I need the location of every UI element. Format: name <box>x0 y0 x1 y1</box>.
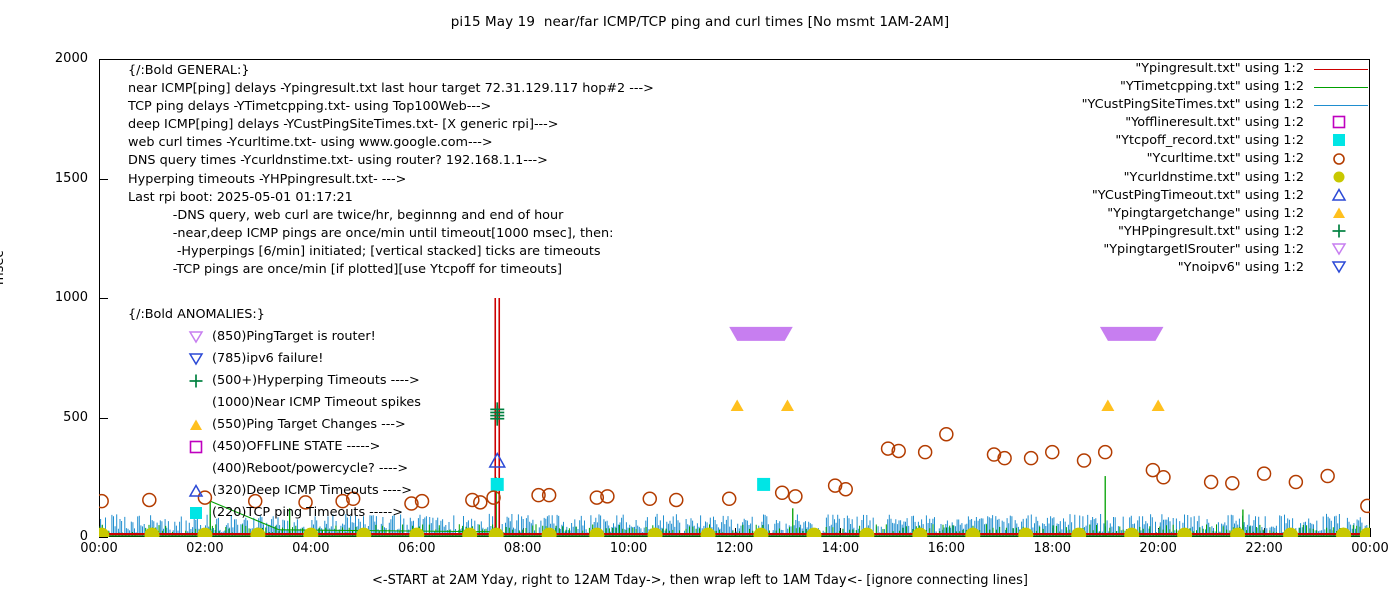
anomalies-heading: {/:Bold ANOMALIES:} <box>128 306 265 328</box>
anomaly-label: (785)ipv6 failure! <box>212 350 323 368</box>
x-axis-tick-mark <box>99 528 100 537</box>
x-axis-tick-label: 00:00 <box>1351 541 1388 556</box>
anomaly-item: (850)PingTarget is router! <box>128 328 265 350</box>
y-axis-label: msec <box>0 250 7 285</box>
x-axis-tick-mark <box>1158 528 1159 537</box>
x-axis-tick-mark <box>311 528 312 537</box>
triangle-up-open-blue-icon <box>189 484 207 500</box>
legend-entry-key <box>1310 96 1372 114</box>
y-axis-tick-mark <box>99 418 108 419</box>
x-axis-tick-label: 22:00 <box>1245 541 1282 556</box>
y-axis-tick-mark <box>99 179 108 180</box>
anomaly-item: (450)OFFLINE STATE -----> <box>128 438 265 460</box>
legend-entry-key <box>1310 60 1372 78</box>
legend-line-swatch <box>1314 87 1368 88</box>
square-filled-cyan-icon <box>1332 133 1348 149</box>
anomaly-label: (400)Reboot/powercycle? ----> <box>212 460 408 478</box>
legend-entry-key <box>1310 151 1372 169</box>
general-line: TCP ping delays -YTimetcpping.txt- using… <box>128 98 654 116</box>
triangle-up-filled-orange-icon <box>189 418 207 434</box>
legend-entry-label: "Ycurltime.txt" using 1:2 <box>1147 150 1304 168</box>
anomaly-label: (850)PingTarget is router! <box>212 328 376 346</box>
y-axis-tick-mark <box>99 298 108 299</box>
anomaly-label: (320)Deep ICMP Timeouts ----> <box>212 482 412 500</box>
legend-entry-label: "YCustPingTimeout.txt" using 1:2 <box>1092 187 1304 205</box>
x-axis-tick-mark <box>1370 528 1371 537</box>
y-axis-tick-mark <box>99 59 108 60</box>
y-axis-tick-label: 2000 <box>28 51 88 66</box>
square-filled-cyan-icon <box>189 506 207 522</box>
y-axis-tick-mark <box>99 537 108 538</box>
legend-entry-label: "Yofflineresult.txt" using 1:2 <box>1125 114 1304 132</box>
x-axis-tick-mark <box>1264 528 1265 537</box>
legend-entry-label: "YCustPingSiteTimes.txt" using 1:2 <box>1082 96 1304 114</box>
legend-entry-key <box>1310 132 1372 150</box>
legend-entry-label: "Ytcpoff_record.txt" using 1:2 <box>1115 132 1304 150</box>
x-axis-tick-label: 18:00 <box>1034 541 1071 556</box>
legend-entry-label: "Ypingtargetchange" using 1:2 <box>1107 205 1304 223</box>
legend-entry: "YHPpingresult.txt" using 1:2 <box>1032 223 1372 241</box>
triangle-down-open-violet-icon <box>1332 242 1348 258</box>
anomaly-item: (320)Deep ICMP Timeouts ----> <box>128 482 265 504</box>
x-axis-tick-label: 12:00 <box>716 541 753 556</box>
anomaly-item: (1000)Near ICMP Timeout spikes <box>128 394 265 416</box>
plus-green-icon <box>189 374 207 390</box>
anomaly-label: (1000)Near ICMP Timeout spikes <box>212 394 421 412</box>
general-annotation-block: {/:Bold GENERAL:}near ICMP[ping] delays … <box>128 62 654 279</box>
y-axis-tick-label: 1500 <box>28 171 88 186</box>
legend-entry: "Ycurltime.txt" using 1:2 <box>1032 150 1372 168</box>
legend-entry: "Ypingresult.txt" using 1:2 <box>1032 60 1372 78</box>
anomaly-item: (500+)Hyperping Timeouts ----> <box>128 372 265 394</box>
x-axis-tick-mark <box>205 528 206 537</box>
general-line: -DNS query, web curl are twice/hr, begin… <box>128 207 654 225</box>
anomaly-item: (400)Reboot/powercycle? ----> <box>128 460 265 482</box>
x-axis-label: <-START at 2AM Yday, right to 12AM Tday-… <box>0 573 1400 588</box>
general-line: -TCP pings are once/min [if plotted][use… <box>128 261 654 279</box>
general-line: DNS query times -Ycurldnstime.txt- using… <box>128 152 654 170</box>
x-axis-tick-mark <box>523 528 524 537</box>
legend-entry: "YCustPingSiteTimes.txt" using 1:2 <box>1032 96 1372 114</box>
anomalies-annotation-block: {/:Bold ANOMALIES:}(850)PingTarget is ro… <box>128 306 265 526</box>
legend-entry: "Ytcpoff_record.txt" using 1:2 <box>1032 132 1372 150</box>
general-heading: {/:Bold GENERAL:} <box>128 62 654 80</box>
triangle-down-open-blue-icon <box>1332 260 1348 276</box>
page-title: pi15 May 19 near/far ICMP/TCP ping and c… <box>0 14 1400 30</box>
legend-entry-key <box>1310 205 1372 223</box>
x-axis-tick-label: 14:00 <box>822 541 859 556</box>
triangle-up-open-blue-icon <box>1332 188 1348 204</box>
legend-line-swatch <box>1314 69 1368 70</box>
x-axis-tick-mark <box>1052 528 1053 537</box>
legend-entry-label: "Ynoipv6" using 1:2 <box>1178 259 1304 277</box>
legend-line-swatch <box>1314 105 1368 106</box>
x-axis-tick-label: 02:00 <box>186 541 223 556</box>
legend-entry: "Ycurldnstime.txt" using 1:2 <box>1032 169 1372 187</box>
general-line: near ICMP[ping] delays -Ypingresult.txt … <box>128 80 654 98</box>
triangle-down-open-blue-icon <box>189 352 207 368</box>
anomaly-item: (220)TCP ping Timeouts -----> <box>128 504 265 526</box>
legend-entry: "YTimetcpping.txt" using 1:2 <box>1032 78 1372 96</box>
x-axis-tick-mark <box>735 528 736 537</box>
legend-entry-label: "Ycurldnstime.txt" using 1:2 <box>1124 169 1304 187</box>
general-line: Hyperping timeouts -YHPpingresult.txt- -… <box>128 171 654 189</box>
x-axis-tick-mark <box>946 528 947 537</box>
general-line: web curl times -Ycurltime.txt- using www… <box>128 134 654 152</box>
y-axis-tick-label: 500 <box>28 410 88 425</box>
x-axis-tick-label: 20:00 <box>1139 541 1176 556</box>
circle-filled-olive-icon <box>1332 170 1348 186</box>
x-axis-tick-label: 08:00 <box>504 541 541 556</box>
triangle-down-open-violet-icon <box>189 330 207 346</box>
x-axis-tick-mark <box>629 528 630 537</box>
general-line: Last rpi boot: 2025-05-01 01:17:21 <box>128 189 654 207</box>
legend-entry: "Yofflineresult.txt" using 1:2 <box>1032 114 1372 132</box>
legend-entry-label: "YpingtargetISrouter" using 1:2 <box>1103 241 1304 259</box>
x-axis-tick-mark <box>417 528 418 537</box>
legend-entry-key <box>1310 241 1372 259</box>
x-axis-tick-mark <box>840 528 841 537</box>
circle-open-brown-icon <box>1332 152 1348 168</box>
legend-entry-key <box>1310 259 1372 277</box>
anomaly-label: (220)TCP ping Timeouts -----> <box>212 504 403 522</box>
general-line: -Hyperpings [6/min] initiated; [vertical… <box>128 243 654 261</box>
x-axis-tick-label: 06:00 <box>398 541 435 556</box>
anomaly-label: (550)Ping Target Changes ---> <box>212 416 406 434</box>
general-line: deep ICMP[ping] delays -YCustPingSiteTim… <box>128 116 654 134</box>
square-open-magenta-icon <box>189 440 207 456</box>
legend-entry-key <box>1310 223 1372 241</box>
square-open-magenta-icon <box>1332 115 1348 131</box>
legend-entry-label: "YTimetcpping.txt" using 1:2 <box>1120 78 1304 96</box>
legend-entry: "YpingtargetISrouter" using 1:2 <box>1032 241 1372 259</box>
legend-entry-key <box>1310 187 1372 205</box>
y-axis-tick-label: 1000 <box>28 290 88 305</box>
legend-entry-label: "Ypingresult.txt" using 1:2 <box>1135 60 1304 78</box>
legend-entry: "Ynoipv6" using 1:2 <box>1032 259 1372 277</box>
triangle-up-filled-orange-icon <box>1332 206 1348 222</box>
general-line: -near,deep ICMP pings are once/min until… <box>128 225 654 243</box>
legend-entry-key <box>1310 169 1372 187</box>
x-axis-tick-label: 10:00 <box>610 541 647 556</box>
legend-entry-key <box>1310 114 1372 132</box>
anomaly-item: (785)ipv6 failure! <box>128 350 265 372</box>
plus-green-icon <box>1332 224 1348 240</box>
y-axis-tick-label: 0 <box>28 529 88 544</box>
x-axis-tick-label: 04:00 <box>292 541 329 556</box>
legend-entry-key <box>1310 78 1372 96</box>
anomaly-label: (450)OFFLINE STATE -----> <box>212 438 380 456</box>
legend-entry-label: "YHPpingresult.txt" using 1:2 <box>1118 223 1304 241</box>
legend: "Ypingresult.txt" using 1:2"YTimetcpping… <box>1032 60 1372 277</box>
anomaly-label: (500+)Hyperping Timeouts ----> <box>212 372 420 390</box>
x-axis-tick-label: 00:00 <box>80 541 117 556</box>
legend-entry: "YCustPingTimeout.txt" using 1:2 <box>1032 187 1372 205</box>
anomaly-item: (550)Ping Target Changes ---> <box>128 416 265 438</box>
x-axis-tick-label: 16:00 <box>928 541 965 556</box>
legend-entry: "Ypingtargetchange" using 1:2 <box>1032 205 1372 223</box>
